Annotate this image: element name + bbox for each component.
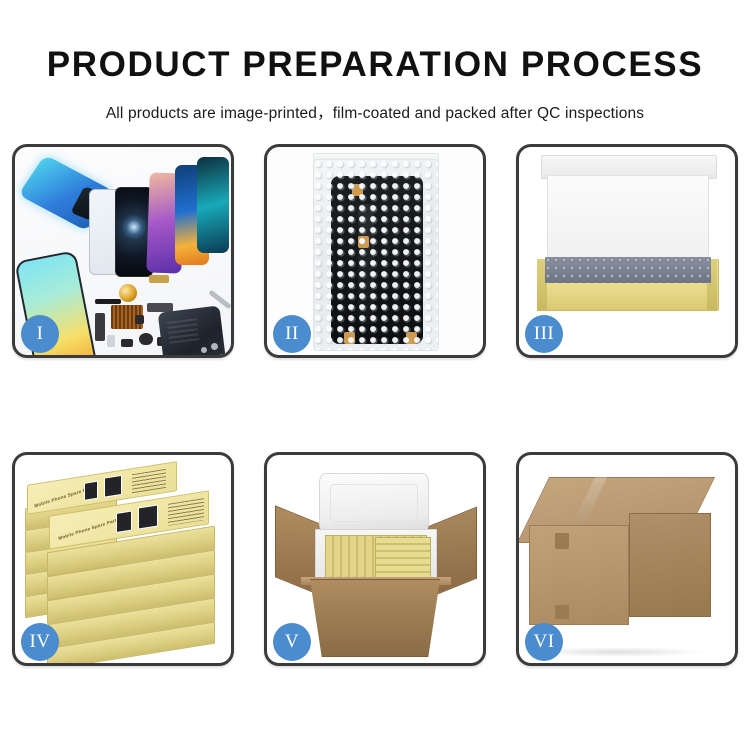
carton-front-face [529, 525, 629, 625]
page-title: PRODUCT PREPARATION PROCESS [0, 47, 750, 82]
step-badge-2: II [273, 315, 311, 353]
box-print-label-front: Mobile Phone Spare Parts [58, 517, 120, 541]
part-small-1 [107, 335, 115, 347]
box-print-screen-b2 [138, 504, 158, 529]
part-screw-1 [211, 343, 218, 350]
part-flex-cable-3 [149, 275, 169, 283]
part-small-6 [135, 315, 144, 324]
carton-tape-lower [555, 605, 569, 619]
part-gold-coil [119, 284, 137, 302]
carton-tape-upper [555, 533, 569, 549]
process-step-4: Mobile Phone Spare Parts Mobile Phone Sp… [12, 452, 234, 666]
carton-side-face [629, 513, 711, 617]
part-battery-strip [95, 299, 121, 304]
page-subtitle: All products are image-printed，film-coat… [0, 101, 750, 123]
styrofoam-lid [319, 473, 429, 533]
phone-teal [197, 157, 229, 253]
box-print-text-b [168, 498, 204, 526]
product-preparation-infographic: PRODUCT PREPARATION PROCESS All products… [0, 0, 750, 750]
step-badge-6: VI [525, 623, 563, 661]
process-step-6: VI [516, 452, 738, 666]
part-small-2 [121, 339, 133, 347]
box-print-screen-b1 [116, 511, 132, 534]
process-step-5: V [264, 452, 486, 666]
part-screw-2 [201, 347, 207, 353]
part-flex-cable-1 [95, 313, 105, 341]
box-print-screen-a1 [84, 481, 98, 501]
part-small-3 [139, 333, 153, 345]
process-step-3: III [516, 144, 738, 358]
process-step-grid: I II [12, 144, 738, 675]
header: PRODUCT PREPARATION PROCESS All products… [0, 0, 750, 123]
bubble-wrap-bag [313, 159, 439, 351]
step-badge-1: I [21, 315, 59, 353]
step-badge-5: V [273, 623, 311, 661]
box-print-text-a [132, 469, 166, 494]
carton-front-panel [301, 579, 449, 657]
bubble-texture [314, 160, 438, 350]
step-badge-3: III [525, 315, 563, 353]
step-badge-4: IV [21, 623, 59, 661]
foam-sheet [547, 175, 709, 265]
process-step-2: II [264, 144, 486, 358]
box-print-screen-a2 [104, 475, 122, 498]
process-step-1: I [12, 144, 234, 358]
bubble-wrapped-contents [545, 257, 711, 283]
